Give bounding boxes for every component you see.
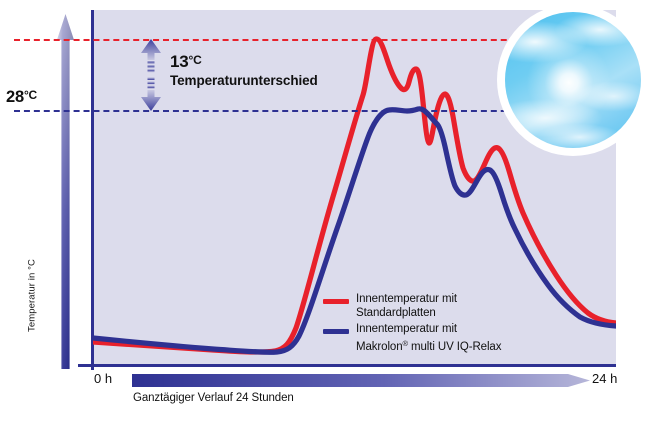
legend-label-iq-relax: Innentemperatur mit Makrolon® multi UV I… <box>356 323 501 354</box>
difference-caption: Temperaturunterschied <box>170 72 318 89</box>
legend-line-1: Innentemperatur mit <box>356 293 457 305</box>
legend-label-standardplatten: Innentemperatur mit Standardplatten <box>356 293 457 320</box>
difference-degree: °C <box>189 53 202 67</box>
x-axis-caption: Ganztägiger Verlauf 24 Stunden <box>133 392 294 404</box>
legend-line-1: Innentemperatur mit <box>356 323 457 335</box>
y-axis-caption: Temperatur in °C <box>27 241 38 351</box>
difference-text-block: 13°C Temperaturunterschied <box>170 50 318 89</box>
difference-value: 13°C <box>170 50 318 72</box>
y-reference-label: 28°C <box>6 88 37 107</box>
legend-item-standardplatten: Innentemperatur mit Standardplatten <box>323 293 553 320</box>
legend-swatch-blue-icon <box>323 329 349 334</box>
legend-line-2: Standardplatten <box>356 307 436 319</box>
time-gradient-arrow <box>132 374 590 387</box>
x-axis-start-label: 0 h <box>94 371 112 386</box>
legend-line-2-pre: Makrolon <box>356 341 403 353</box>
temperature-difference-annotation: 13°C Temperaturunterschied <box>140 38 350 113</box>
temperature-gradient-arrow <box>57 14 74 369</box>
sky-gradient <box>505 12 641 148</box>
x-axis-end-label: 24 h <box>592 371 617 386</box>
sun-sky-circle-image <box>497 4 649 156</box>
y-reference-degree: °C <box>24 88 37 102</box>
x-axis-line <box>78 364 616 367</box>
y-reference-number: 28 <box>6 88 24 106</box>
double-arrow-icon <box>140 38 162 112</box>
chart-root: 28°C Temperatur in °C <box>0 0 666 422</box>
difference-number: 13 <box>170 52 189 71</box>
legend-item-iq-relax: Innentemperatur mit Makrolon® multi UV I… <box>323 323 553 354</box>
legend-swatch-red-icon <box>323 299 349 304</box>
chart-legend: Innentemperatur mit Standardplatten Inne… <box>323 293 553 357</box>
legend-line-2-post: multi UV IQ-Relax <box>408 341 501 353</box>
